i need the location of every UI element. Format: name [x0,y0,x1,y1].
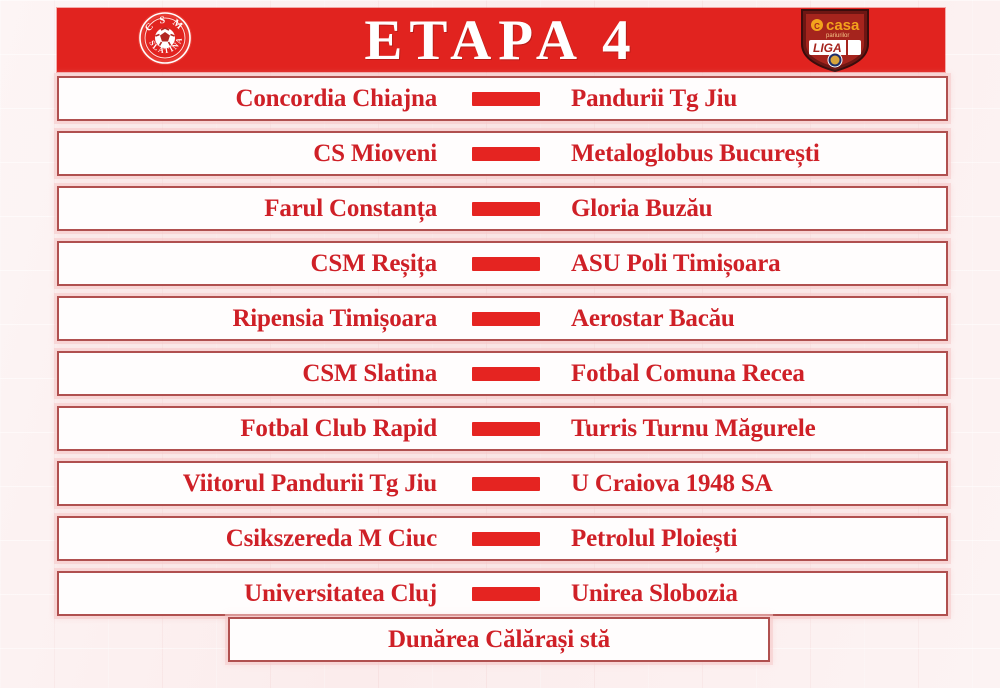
match-row[interactable]: Fotbal Club Rapid Turris Turnu Măgurele [57,406,948,451]
match-row[interactable]: Concordia Chiajna Pandurii Tg Jiu [57,76,948,121]
svg-text:C: C [814,22,820,31]
home-team: Fotbal Club Rapid [240,415,437,442]
away-team: Turris Turnu Măgurele [571,415,815,442]
away-team: Fotbal Comuna Recea [571,360,805,387]
away-team: Aerostar Bacău [571,305,735,332]
versus-bar-icon [472,147,540,161]
fixtures-list: Concordia Chiajna Pandurii Tg Jiu CS Mio… [57,76,948,626]
match-row[interactable]: CS Mioveni Metaloglobus București [57,131,948,176]
match-row[interactable]: Universitatea Cluj Unirea Slobozia [57,571,948,616]
svg-text:pariurilor: pariurilor [826,33,849,39]
away-team: Unirea Slobozia [571,580,738,607]
home-team: CSM Reșița [311,250,437,277]
page-title: ETAPA 4 [364,12,637,69]
home-team: Universitatea Cluj [244,580,437,607]
home-team: Viitorul Pandurii Tg Jiu [183,470,437,497]
away-team: ASU Poli Timișoara [571,250,780,277]
away-team: Petrolul Ploiești [571,525,737,552]
home-team: Csikszereda M Ciuc [226,525,437,552]
versus-bar-icon [472,312,540,326]
match-row[interactable]: Farul Constanța Gloria Buzău [57,186,948,231]
versus-bar-icon [472,257,540,271]
away-team: Metaloglobus București [571,140,820,167]
match-row[interactable]: Csikszereda M Ciuc Petrolul Ploiești [57,516,948,561]
versus-bar-icon [472,477,540,491]
csm-slatina-crest-icon: C S M SLATINA [125,9,205,67]
match-row[interactable]: Ripensia Timișoara Aerostar Bacău [57,296,948,341]
versus-bar-icon [472,532,540,546]
svg-text:casa: casa [826,17,860,34]
match-row[interactable]: CSM Reșița ASU Poli Timișoara [57,241,948,286]
away-team: Gloria Buzău [571,195,712,222]
home-team: Farul Constanța [264,195,437,222]
svg-text:2: 2 [851,40,858,55]
versus-bar-icon [472,92,540,106]
away-team: U Craiova 1948 SA [571,470,772,497]
versus-bar-icon [472,422,540,436]
versus-bar-icon [472,587,540,601]
bye-team-row[interactable]: Dunărea Călărași stă [228,617,770,662]
match-row[interactable]: Viitorul Pandurii Tg Jiu U Craiova 1948 … [57,461,948,506]
home-team: Ripensia Timișoara [232,305,437,332]
away-team: Pandurii Tg Jiu [571,85,737,112]
casa-pariurilor-liga2-logo-icon: C casa pariurilor LIGA 2 [796,4,874,74]
match-row[interactable]: CSM Slatina Fotbal Comuna Recea [57,351,948,396]
versus-bar-icon [472,202,540,216]
home-team: Concordia Chiajna [236,85,437,112]
home-team: CS Mioveni [313,140,437,167]
fixtures-sheet: ETAPA 4 C S M SLATINA C [0,0,1000,688]
bye-team-label: Dunărea Călărași stă [388,627,610,652]
versus-bar-icon [472,367,540,381]
home-team: CSM Slatina [302,360,437,387]
